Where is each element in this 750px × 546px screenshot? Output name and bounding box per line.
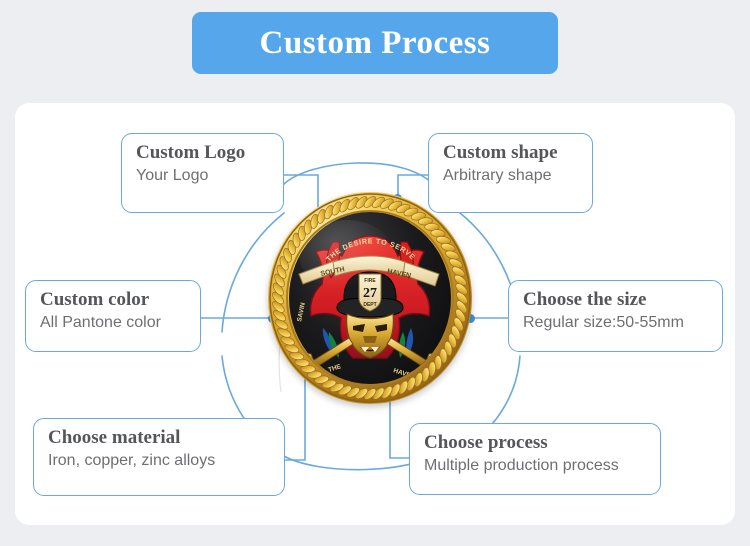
callout-choose-process-subtitle: Multiple production process [424, 456, 646, 476]
callout-choose-size-title: Choose the size [523, 289, 708, 311]
callout-choose-process[interactable]: Choose process Multiple production proce… [409, 423, 661, 495]
callout-choose-material-subtitle: Iron, copper, zinc alloys [48, 451, 270, 471]
callout-choose-material[interactable]: Choose material Iron, copper, zinc alloy… [33, 418, 285, 496]
page-header-banner: Custom Process [192, 12, 558, 74]
callout-custom-shape-subtitle: Arbitrary shape [443, 166, 578, 186]
svg-text:THE: THE [327, 363, 342, 374]
svg-text:27: 27 [363, 286, 377, 301]
svg-text:SAVIN: SAVIN [296, 302, 307, 323]
callout-choose-size[interactable]: Choose the size Regular size:50-55mm [508, 280, 723, 352]
svg-text:HAVEN: HAVEN [392, 367, 416, 381]
callout-custom-color-title: Custom color [40, 289, 186, 311]
callout-custom-logo-subtitle: Your Logo [136, 166, 269, 186]
svg-text:FIRE: FIRE [364, 278, 376, 284]
callout-custom-shape[interactable]: Custom shape Arbitrary shape [428, 133, 593, 213]
callout-custom-shape-title: Custom shape [443, 142, 578, 164]
callout-custom-logo-title: Custom Logo [136, 142, 269, 164]
coin-emblem-artwork: THE DESIRE TO SERVE SOUTH HAVEN FIRE [289, 212, 451, 384]
callout-custom-logo[interactable]: Custom Logo Your Logo [121, 133, 284, 213]
coin-enamel-field: THE DESIRE TO SERVE SOUTH HAVEN FIRE [289, 212, 451, 384]
callout-custom-color-subtitle: All Pantone color [40, 313, 186, 333]
callout-custom-color[interactable]: Custom color All Pantone color [25, 280, 201, 352]
callout-choose-process-title: Choose process [424, 432, 646, 454]
callout-choose-material-title: Choose material [48, 427, 270, 449]
coin-gold-rim: THE DESIRE TO SERVE SOUTH HAVEN FIRE [268, 192, 472, 404]
page-title: Custom Process [260, 27, 491, 60]
callout-choose-size-subtitle: Regular size:50-55mm [523, 313, 708, 333]
svg-text:DEPT: DEPT [363, 302, 376, 308]
challenge-coin-image: THE DESIRE TO SERVE SOUTH HAVEN FIRE [262, 190, 478, 406]
